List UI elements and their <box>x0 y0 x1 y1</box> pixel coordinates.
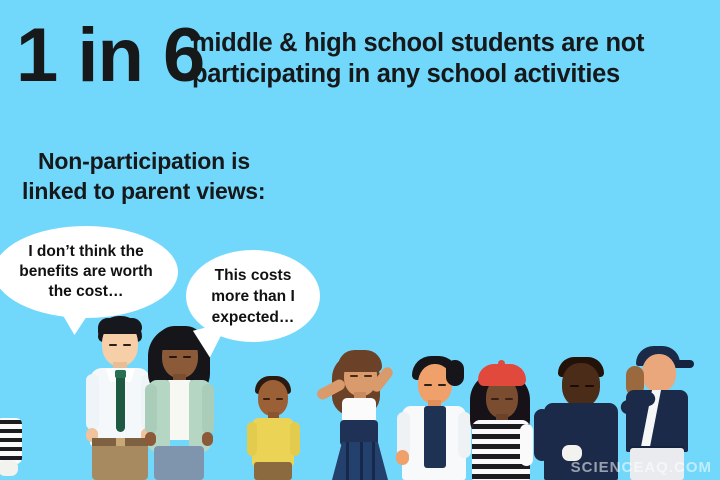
boy-arm-left <box>247 422 257 456</box>
bubble-1-line-1: I don’t think the <box>19 242 153 262</box>
subheading-block: Non-participation is linked to parent vi… <box>38 146 265 206</box>
artist-navy-shirt <box>424 406 446 468</box>
bubble-1-line-2: benefits are worth <box>19 262 153 282</box>
speech-bubble-text-2: This costs more than I expected… <box>201 265 305 328</box>
cheerleader-hair-top <box>338 350 382 372</box>
headline-block: 1 in 6 middle & high school students are… <box>0 0 720 118</box>
headline-line-2: participating in any school activities <box>192 59 720 90</box>
bubble-2-line-1: This costs <box>211 265 295 286</box>
boy-yellow-shirt <box>252 418 294 466</box>
figure-artist-student <box>396 354 472 480</box>
mother-hand-right <box>202 432 213 446</box>
artist-hair-side <box>446 360 464 386</box>
subheading-line-1: Non-participation is <box>38 146 265 176</box>
mother-hand-left <box>145 432 156 446</box>
father-khaki-pants <box>92 440 148 480</box>
band-student-head <box>562 363 600 407</box>
figure-beret-girl-student <box>466 358 536 480</box>
figure-edge-sleeve <box>0 418 26 480</box>
cheerleader-skirt-pleat-1 <box>346 442 349 480</box>
cheerleader-skirt-pleat-3 <box>372 442 375 480</box>
watermark: SCIENCEAQ.COM <box>571 459 712 476</box>
edge-striped-sleeve <box>0 418 22 464</box>
speech-bubble-parent-expected: This costs more than I expected… <box>186 250 320 342</box>
mother-jeans <box>154 446 204 480</box>
father-hair-fringe <box>98 318 142 334</box>
boy-head <box>258 380 288 416</box>
father-belt-buckle <box>116 438 125 446</box>
infographic-canvas: 1 in 6 middle & high school students are… <box>0 0 720 480</box>
baseball-player-head <box>642 354 676 392</box>
subheading-line-2: linked to parent views: <box>22 176 265 206</box>
artist-hand-left <box>396 450 409 465</box>
speech-bubble-parent-cost: I don’t think the benefits are worth the… <box>0 226 178 318</box>
cheerleader-skirt-pleat-2 <box>360 442 363 480</box>
speech-bubble-text-1: I don’t think the benefits are worth the… <box>9 242 163 302</box>
figure-cheerleader-student <box>312 330 398 480</box>
edge-glove-hand <box>0 460 18 476</box>
bubble-1-line-3: the cost… <box>19 282 153 302</box>
mother-arm-right <box>202 384 214 434</box>
father-tie-knot <box>115 370 126 378</box>
boy-shorts <box>254 462 292 480</box>
mother-arm-left <box>145 384 157 434</box>
headline-statement: middle & high school students are not pa… <box>192 28 720 90</box>
beret-girl-beret-nub <box>498 360 505 367</box>
headline-line-1: middle & high school students are not <box>192 28 720 59</box>
illustration-scene <box>0 300 720 480</box>
statistic-1-in-6: 1 in 6 <box>16 18 204 94</box>
boy-arm-right <box>290 422 300 456</box>
band-student-arm-left <box>534 409 550 461</box>
figure-young-boy <box>246 372 300 480</box>
father-arm-left <box>86 374 99 430</box>
bubble-2-line-2: more than I <box>211 286 295 307</box>
beret-girl-red-beret <box>478 364 526 386</box>
father-green-tie <box>116 374 125 432</box>
bubble-2-line-3: expected… <box>211 307 295 328</box>
